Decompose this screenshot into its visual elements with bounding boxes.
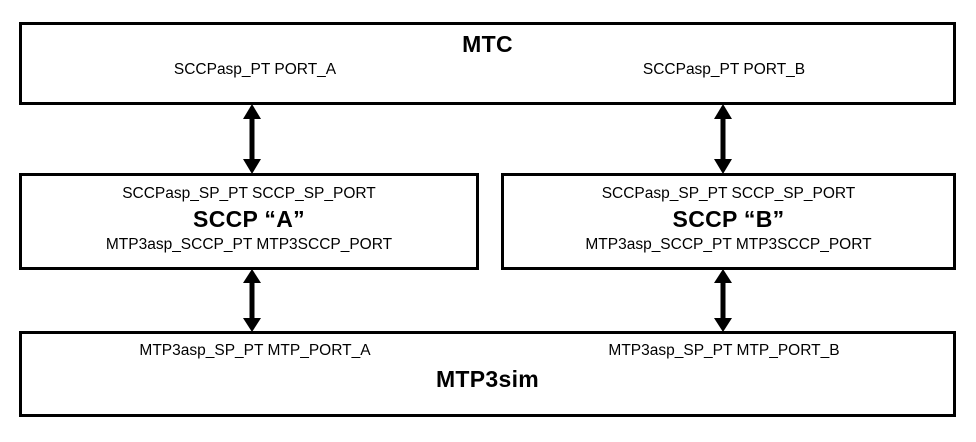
node-mtc-port-a-label: SCCPasp_PT PORT_A (22, 61, 488, 79)
node-sccp-b-bottom-port-label: MTP3asp_SCCP_PT MTP3SCCP_PORT (504, 236, 953, 254)
node-mtc: MTC SCCPasp_PT PORT_A SCCPasp_PT PORT_B (19, 22, 956, 105)
node-sccp-a-bottom-port-label: MTP3asp_SCCP_PT MTP3SCCP_PORT (22, 236, 476, 254)
connector-mtc-to-sccp-b (710, 104, 736, 174)
node-mtp3sim: MTP3asp_SP_PT MTP_PORT_A MTP3asp_SP_PT M… (19, 331, 956, 417)
node-mtp3sim-port-a-label: MTP3asp_SP_PT MTP_PORT_A (22, 342, 488, 360)
node-sccp-b-title: SCCP “B” (504, 206, 953, 232)
node-sccp-a-title: SCCP “A” (22, 206, 476, 232)
node-sccp-b: SCCPasp_SP_PT SCCP_SP_PORT SCCP “B” MTP3… (501, 173, 956, 270)
node-mtc-title: MTC (22, 31, 953, 57)
node-mtc-port-b-label: SCCPasp_PT PORT_B (492, 61, 956, 79)
node-mtp3sim-title: MTP3sim (22, 366, 953, 392)
connector-mtc-to-sccp-a (239, 104, 265, 174)
node-mtp3sim-port-b-label: MTP3asp_SP_PT MTP_PORT_B (492, 342, 956, 360)
architecture-diagram: MTC SCCPasp_PT PORT_A SCCPasp_PT PORT_B … (0, 0, 976, 442)
connector-sccp-b-to-mtp3sim (710, 269, 736, 332)
node-sccp-b-top-port-label: SCCPasp_SP_PT SCCP_SP_PORT (504, 185, 953, 203)
connector-sccp-a-to-mtp3sim (239, 269, 265, 332)
node-sccp-a: SCCPasp_SP_PT SCCP_SP_PORT SCCP “A” MTP3… (19, 173, 479, 270)
node-sccp-a-top-port-label: SCCPasp_SP_PT SCCP_SP_PORT (22, 185, 476, 203)
